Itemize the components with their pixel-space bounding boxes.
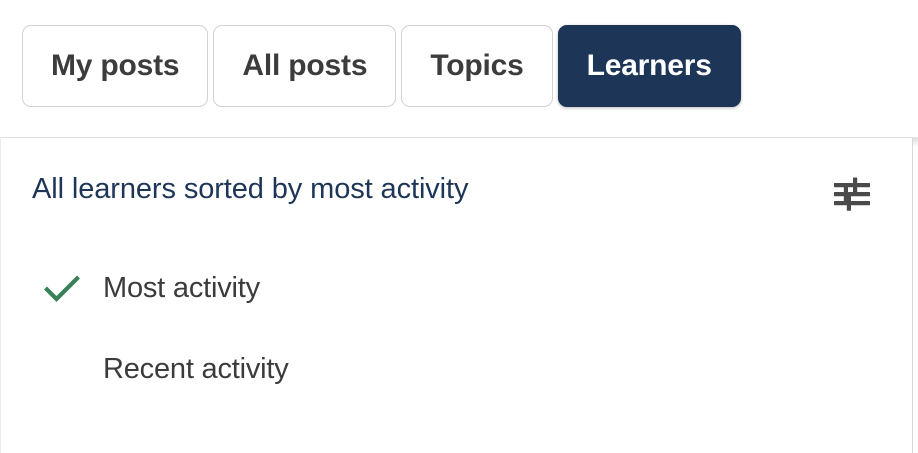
tab-list: My posts All posts Topics Learners — [22, 25, 741, 107]
tab-all-posts-label: All posts — [242, 49, 367, 83]
tab-topics-label: Topics — [430, 49, 523, 83]
sort-option-recent-activity-label: Recent activity — [103, 353, 289, 386]
tab-learners-label: Learners — [587, 49, 712, 83]
sort-option-recent-activity[interactable]: Recent activity — [1, 329, 912, 410]
tab-learners[interactable]: Learners — [558, 25, 741, 107]
filter-settings-button[interactable] — [828, 172, 876, 216]
check-icon — [43, 273, 81, 305]
sort-options-list: Most activity Recent activity — [1, 248, 912, 410]
learners-panel: All learners sorted by most activity — [0, 138, 913, 453]
sort-option-most-activity[interactable]: Most activity — [1, 248, 912, 329]
page-title: All learners sorted by most activity — [32, 173, 468, 206]
sort-option-most-activity-label: Most activity — [103, 272, 260, 305]
tune-icon — [832, 176, 872, 212]
tab-my-posts-label: My posts — [51, 49, 179, 83]
tab-bar: My posts All posts Topics Learners — [0, 0, 918, 137]
panel-header: All learners sorted by most activity — [1, 138, 912, 248]
tab-all-posts[interactable]: All posts — [213, 25, 396, 107]
tab-my-posts[interactable]: My posts — [22, 25, 208, 107]
tab-topics[interactable]: Topics — [401, 25, 552, 107]
